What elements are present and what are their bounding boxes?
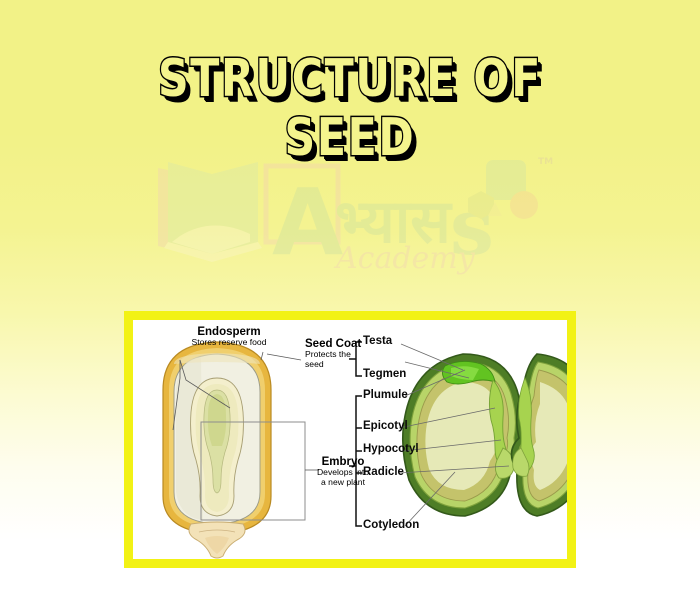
triangle-shape [488, 202, 502, 216]
label-radicle: Radicle [363, 466, 404, 478]
watermark-script: Academy [333, 241, 476, 276]
watermark-letter-s: s [450, 182, 494, 273]
rounded-square-shape [486, 160, 526, 200]
label-embryo-subtitle-line-2: a new plant [309, 478, 377, 488]
label-plumule: Plumule [363, 389, 408, 401]
academy-watermark: A भ्यास s Academy TM [150, 150, 570, 285]
title-line-2: SEED [63, 114, 637, 163]
diagram-frame: Endosperm Stores reserve food Seed Coat … [124, 311, 576, 568]
page-title: STRUCTURE OF SEED [0, 55, 700, 164]
label-cotyledon: Cotyledon [363, 519, 419, 531]
circle-shape [510, 191, 538, 219]
watermark-devanagari: भ्यास [335, 187, 453, 257]
label-tegmen: Tegmen [363, 368, 406, 380]
label-seed-coat: Seed Coat Protects the seed [305, 338, 363, 369]
watermark-letter-a: A [272, 169, 343, 276]
open-book-icon [158, 162, 262, 262]
label-endosperm-subtitle: Stores reserve food [159, 338, 299, 348]
label-hypocotyl: Hypocotyl [363, 443, 419, 455]
maize-seed-cross-section [163, 342, 271, 558]
title-line-1: STRUCTURE OF [63, 55, 637, 104]
watermark-shapes [468, 160, 538, 219]
poster-root: A भ्यास s Academy TM STRUCTURE OF SEED [0, 0, 700, 600]
leader-line-seed-coat [261, 352, 301, 360]
label-testa: Testa [363, 335, 392, 347]
label-epicotyl: Epicotyl [363, 420, 408, 432]
label-endosperm: Endosperm Stores reserve food [159, 326, 299, 348]
watermark-square-frame [266, 166, 338, 242]
diagram-panel: Endosperm Stores reserve food Seed Coat … [133, 320, 567, 559]
label-seed-coat-subtitle: Protects the seed [305, 350, 363, 369]
hexagon-shape [468, 191, 494, 219]
bean-seed-cross-section [403, 354, 567, 516]
